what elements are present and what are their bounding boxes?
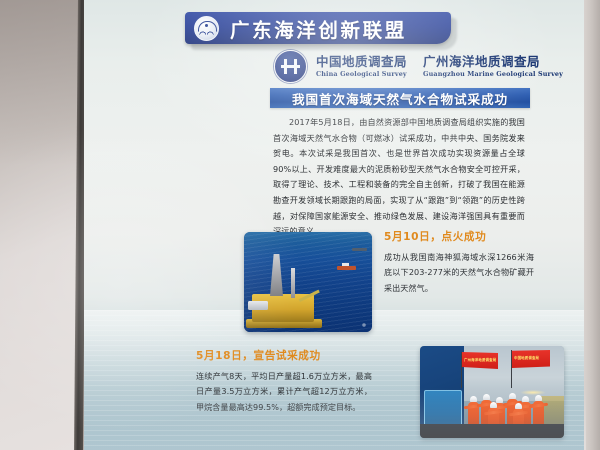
organization-gmgs-chinese: 广州海洋地质调查局 <box>423 55 563 68</box>
drilling-platform-photo <box>244 232 372 332</box>
seal-cross-bar-shape <box>281 65 300 68</box>
section-ignition-body: 成功从我国南海神狐海域水深1266米海底以下203-277米的天然气水合物矿藏开… <box>384 250 534 296</box>
organization-name-gmgs: 广州海洋地质调查局 Guangzhou Marine Geological Su… <box>423 55 563 77</box>
organization-gmgs-english: Guangzhou Marine Geological Survey <box>423 71 563 78</box>
section-success-heading: 5月18日，宣告试采成功 <box>196 348 372 363</box>
banner-title: 广东海洋创新联盟 <box>230 14 407 43</box>
red-flag-right-text: 中国地质调查局 <box>514 355 539 360</box>
intro-paragraph: 2017年5月18日，由自然资源部中国地质调查局组织实施的我国首次海域天然气水合… <box>273 115 525 240</box>
exhibition-board-photograph: 广东海洋创新联盟 中国地质调查局 China Geological Survey… <box>0 0 600 450</box>
alliance-banner: 广东海洋创新联盟 <box>185 12 451 44</box>
display-board: 广东海洋创新联盟 中国地质调查局 China Geological Survey… <box>84 0 586 450</box>
photo-corner-mark-icon <box>361 322 367 328</box>
red-flag-left-text: 广州海洋地质调查局 <box>464 357 496 362</box>
red-flag-right: 中国地质调查局 <box>512 350 550 368</box>
crew-celebration-photo: 广州海洋地质调查局 中国地质调查局 <box>420 346 564 438</box>
section-success-body: 连续产气8天，平均日产量超1.6万立方米，最高日产量3.5万立方米，累计产气超1… <box>196 369 372 415</box>
wall-surface-right <box>584 0 600 450</box>
headline-text: 我国首次海域天然气水合物试采成功 <box>292 89 508 108</box>
distant-vessel-icon <box>352 248 367 251</box>
section-success: 5月18日，宣告试采成功 连续产气8天，平均日产量超1.6万立方米，最高日产量3… <box>196 348 372 415</box>
section-ignition: 5月10日，点火成功 成功从我国南海神狐海域水深1266米海底以下203-277… <box>384 229 534 296</box>
headline-bar: 我国首次海域天然气水合物试采成功 <box>270 88 530 108</box>
organization-name-cgs: 中国地质调查局 China Geological Survey <box>316 55 407 77</box>
platform-mast-shape <box>291 268 295 298</box>
ocean-alliance-emblem-icon <box>194 16 219 41</box>
organization-cgs-english: China Geological Survey <box>316 71 407 78</box>
support-vessel-icon <box>337 266 356 270</box>
organization-cgs-chinese: 中国地质调查局 <box>316 55 407 68</box>
organization-logo-row: 中国地质调查局 China Geological Survey 广州海洋地质调查… <box>274 50 563 83</box>
red-flag-left: 广州海洋地质调查局 <box>462 352 498 369</box>
emblem-wave-shape <box>199 31 214 35</box>
section-ignition-heading: 5月10日，点火成功 <box>384 229 534 244</box>
deck-floor-shape <box>420 424 564 438</box>
banner-body: 广东海洋创新联盟 <box>185 12 451 44</box>
sun-glint-shape <box>520 390 546 395</box>
china-geological-survey-seal-icon <box>274 50 307 83</box>
emblem-dot-shape <box>205 24 208 27</box>
platform-deckhouse-shape <box>248 301 268 310</box>
wall-surface-left <box>0 0 78 450</box>
